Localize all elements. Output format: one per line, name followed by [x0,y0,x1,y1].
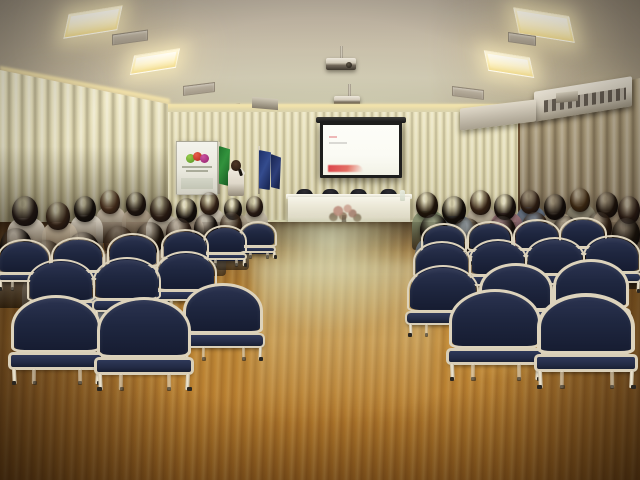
chair-leg-tip [450,377,454,381]
chair-leg-tip [202,357,206,361]
chair-seat-rim [94,357,194,375]
audience-head [246,196,263,217]
chair-frame [97,297,191,358]
chair-leg-tip [631,385,636,389]
chair-leg-tip [0,287,2,291]
audience-head [200,192,219,215]
chair-leg-tip [187,387,191,391]
chair-leg-tip [78,381,82,385]
chair-leg-tip [11,287,14,291]
chair-seat-rim [181,333,265,348]
chair-leg-tip [517,377,521,381]
banner-text-line-1 [182,166,212,168]
chair-leg-tip [242,357,246,361]
projection-screen-surface [323,125,399,175]
water-bottle [400,190,405,201]
chair-leg-tip [12,381,16,385]
flag-blue [259,150,271,190]
audience-head [46,202,70,230]
chair-leg-tip [274,255,277,259]
audience-head [12,196,38,226]
projection-screen [320,122,402,178]
conference-hall-photo [0,0,640,480]
chair-frame [183,283,263,334]
chair-leg-tip [425,333,428,337]
chair-leg-tip [408,333,411,337]
chair-leg-tip [610,385,615,389]
chair-left-2 [100,300,188,390]
chair-frame [93,257,161,300]
audience-head [100,190,120,214]
slide-text-line-2 [329,142,346,144]
audience-head [74,196,96,222]
chair-frame [449,289,541,349]
chair-leg-tip [33,381,37,385]
chair-right-2 [452,292,538,380]
banner-text-line-2 [186,170,208,172]
audience-head [126,192,146,216]
audience-head [150,196,172,222]
chair-frame [537,293,635,355]
chair-leg-tip [249,255,252,259]
chair-left-3 [186,286,260,360]
chair-frame [11,295,101,353]
chair-left-1 [14,298,98,384]
flag-blue-2 [271,154,281,190]
chair-right-1 [540,296,632,388]
banner-logo-dot-purple [200,154,209,163]
wall-speaker-left [252,97,278,110]
chair-leg-tip [167,387,171,391]
chair-leg-tip [97,387,101,391]
chair-seat-rim [534,354,639,372]
chair-leg-tip [244,263,247,267]
chair-leg-tip [266,255,269,259]
chair-leg-tip [560,385,565,389]
projector-mount-pole-2 [348,84,351,96]
audience-head [570,188,590,212]
audience-head [470,190,491,215]
roll-up-banner [176,141,218,195]
chair-leg-tip [471,377,475,381]
chair-leg-tip [235,263,238,267]
chair-leg-tip [259,357,263,361]
chair-seat-rim [8,352,104,369]
chair-leg-tip [120,387,124,391]
chair-frame [203,225,247,254]
slide-red-graphic [328,165,363,172]
projector-lens [346,62,352,68]
audience-head [520,190,540,214]
chair-leg-tip [537,385,542,389]
banner-lower-panel [181,178,213,189]
slide-text-line-1 [329,136,337,138]
chair-seat-rim [446,348,544,366]
